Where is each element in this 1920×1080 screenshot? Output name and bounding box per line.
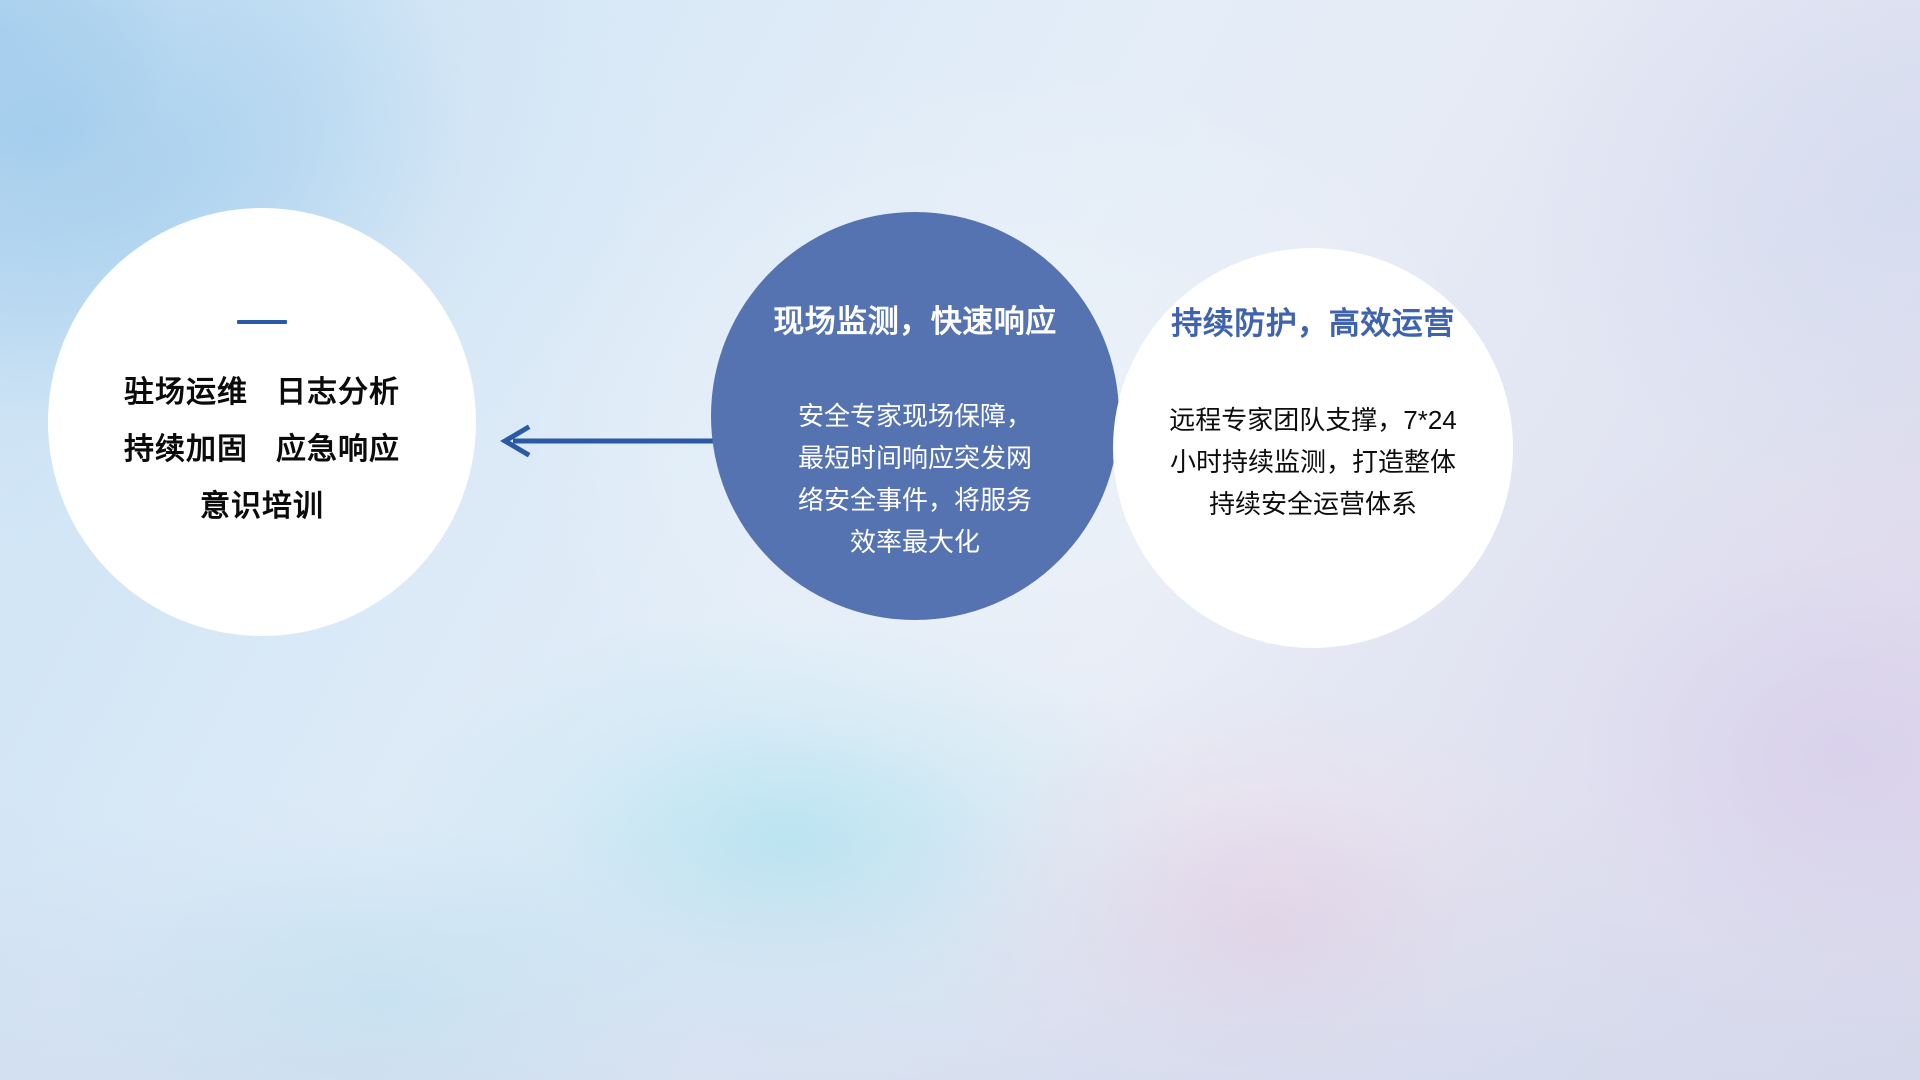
left-keyword-line: 驻场运维 日志分析	[124, 364, 400, 421]
left-keyword-line: 意识培训	[124, 478, 400, 535]
left-keyword-line: 持续加固 应急响应	[124, 421, 400, 478]
left-circle-content: 驻场运维 日志分析 持续加固 应急响应 意识培训	[48, 208, 476, 636]
right-circle-shape	[1113, 248, 1513, 648]
slide-canvas: 驻场运维 日志分析 持续加固 应急响应 意识培训 现场监测，快速响应 安全专家现…	[0, 0, 1920, 1080]
left-circle-keyword-list: 驻场运维 日志分析 持续加固 应急响应 意识培训	[124, 364, 400, 535]
center-circle-shape	[711, 212, 1119, 620]
divider-dash	[237, 320, 287, 324]
flow-arrow-icon	[495, 424, 715, 458]
